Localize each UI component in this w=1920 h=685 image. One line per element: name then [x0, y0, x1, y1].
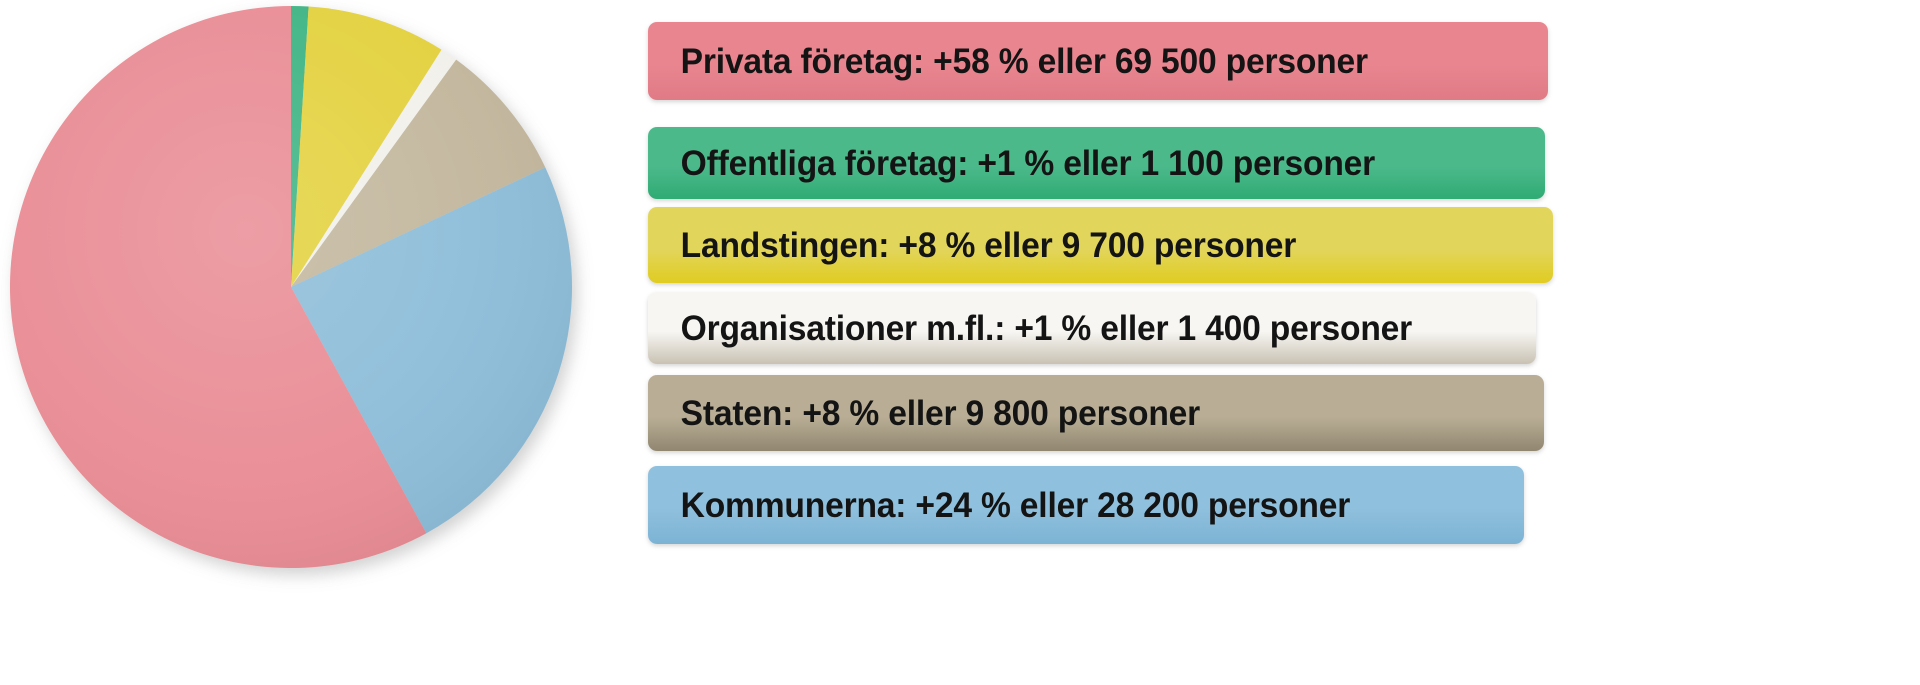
legend-item-label: Staten: +8 % eller 9 800 personer [648, 396, 1200, 431]
legend-item-offentliga-foretag[interactable]: Offentliga företag: +1 % eller 1 100 per… [648, 127, 1545, 199]
legend-item-staten[interactable]: Staten: +8 % eller 9 800 personer [648, 375, 1544, 451]
legend: Privata företag: +58 % eller 69 500 pers… [648, 0, 1548, 685]
legend-item-kommunerna[interactable]: Kommunerna: +24 % eller 28 200 personer [648, 466, 1524, 544]
legend-item-label: Landstingen: +8 % eller 9 700 personer [648, 228, 1296, 263]
legend-item-landstingen[interactable]: Landstingen: +8 % eller 9 700 personer [648, 207, 1553, 283]
legend-item-label: Privata företag: +58 % eller 69 500 pers… [648, 44, 1368, 79]
pie-chart-svg [0, 0, 620, 620]
legend-item-organisationer-mfl[interactable]: Organisationer m.fl.: +1 % eller 1 400 p… [648, 292, 1536, 364]
infographic-root: Privata företag: +58 % eller 69 500 pers… [0, 0, 1920, 685]
pie-gloss-overlay [10, 6, 572, 568]
legend-item-label: Kommunerna: +24 % eller 28 200 personer [648, 488, 1350, 523]
legend-item-label: Offentliga företag: +1 % eller 1 100 per… [648, 146, 1375, 181]
legend-item-privata-foretag[interactable]: Privata företag: +58 % eller 69 500 pers… [648, 22, 1548, 100]
legend-item-label: Organisationer m.fl.: +1 % eller 1 400 p… [648, 311, 1412, 346]
pie-chart [0, 0, 620, 620]
